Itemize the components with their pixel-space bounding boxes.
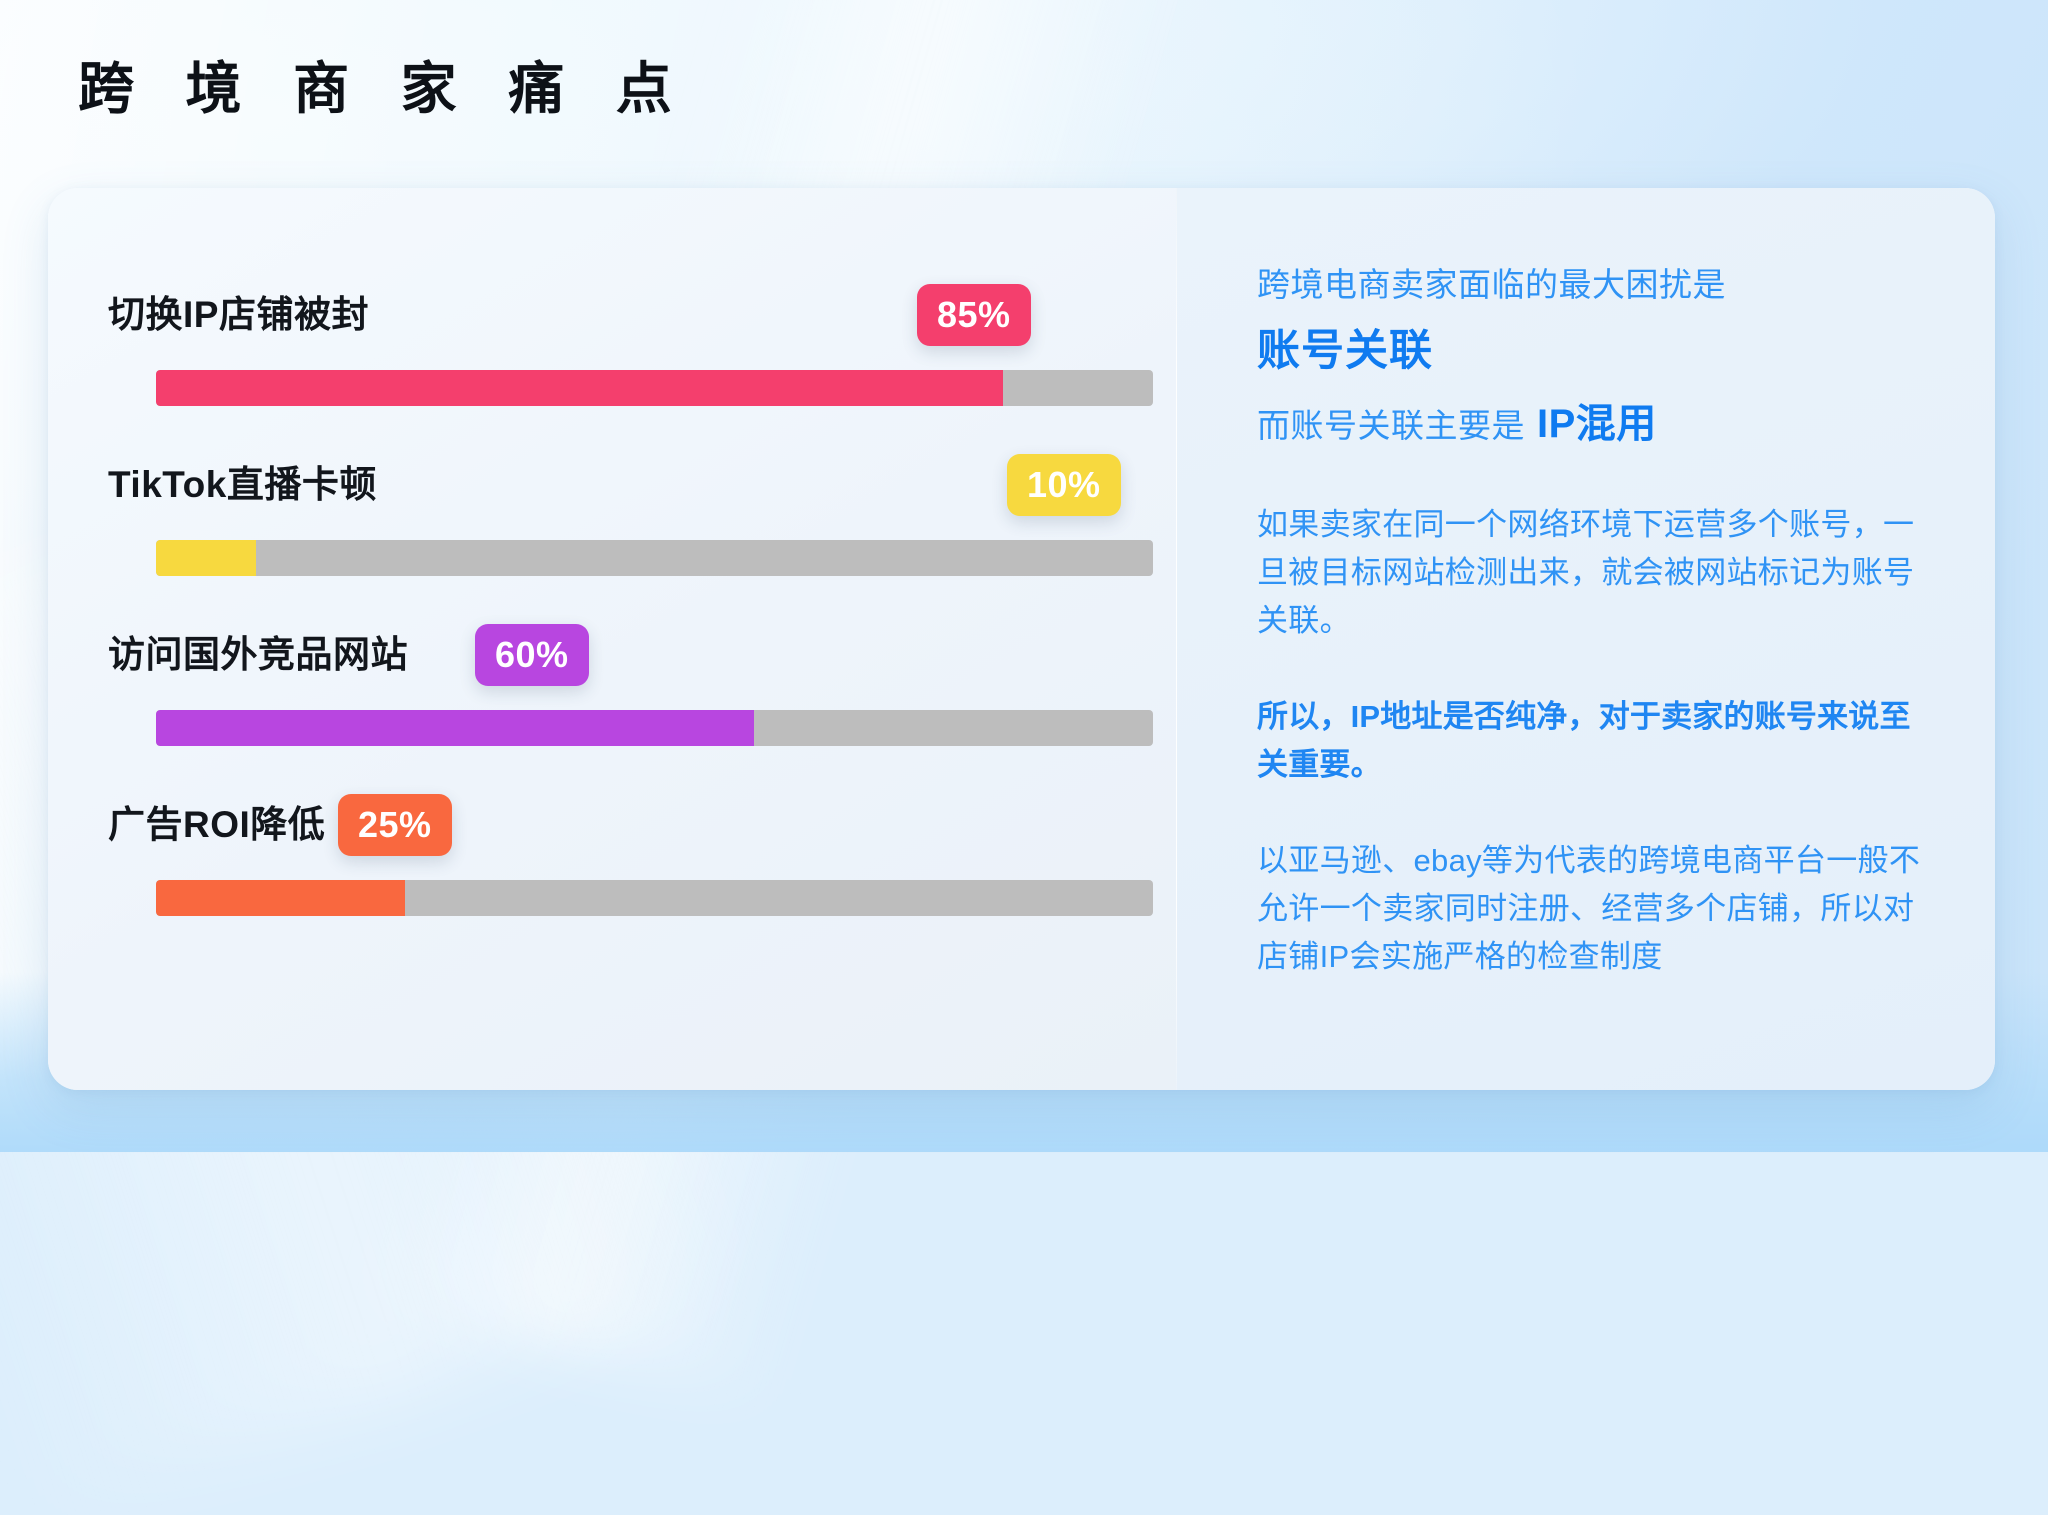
bar-label: 广告ROI降低 — [108, 806, 325, 843]
bar-value-badge: 10% — [1007, 454, 1121, 516]
description-paragraph-2: 所以，IP地址是否纯净，对于卖家的账号来说至关重要。 — [1257, 693, 1935, 789]
bar-fill — [156, 880, 405, 916]
description-paragraph-1: 如果卖家在同一个网络环境下运营多个账号，一旦被目标网站检测出来，就会被网站标记为… — [1257, 501, 1935, 645]
bar-fill — [156, 710, 754, 746]
bar-chart-list: 切换IP店铺被封 85% TikTok直播卡顿 10% 访问国外竞品网站 — [48, 188, 1176, 956]
bar-value-badge: 25% — [338, 794, 452, 856]
bar-row: 广告ROI降低 25% — [48, 786, 1176, 956]
bar-fill — [156, 540, 256, 576]
bar-header: 广告ROI降低 — [108, 786, 1176, 862]
content-card: 切换IP店铺被封 85% TikTok直播卡顿 10% 访问国外竞品网站 — [48, 188, 1995, 1090]
description-sub-strong: IP混用 — [1537, 396, 1657, 453]
bar-label: TikTok直播卡顿 — [108, 466, 377, 503]
bar-row: TikTok直播卡顿 10% — [48, 446, 1176, 616]
bar-value-badge: 85% — [917, 284, 1031, 346]
description-sub-prefix: 而账号关联主要是 — [1257, 403, 1525, 450]
bar-header: 访问国外竞品网站 — [108, 616, 1176, 692]
bar-track — [156, 370, 1153, 406]
description-subline: 而账号关联主要是 IP混用 — [1257, 396, 1935, 453]
bar-row: 切换IP店铺被封 85% — [48, 276, 1176, 446]
bar-track — [156, 710, 1153, 746]
description-content: 跨境电商卖家面临的最大困扰是 账号关联 而账号关联主要是 IP混用 如果卖家在同… — [1257, 262, 1935, 981]
bar-row: 访问国外竞品网站 60% — [48, 616, 1176, 786]
description-lead: 跨境电商卖家面临的最大困扰是 — [1257, 262, 1935, 309]
description-hero: 账号关联 — [1257, 321, 1935, 382]
page-title: 跨 境 商 家 痛 点 — [78, 58, 690, 120]
bar-value-badge: 60% — [475, 624, 589, 686]
bar-fill — [156, 370, 1003, 406]
bar-track — [156, 540, 1153, 576]
bar-label: 访问国外竞品网站 — [108, 636, 408, 673]
description-panel: 跨境电商卖家面临的最大困扰是 账号关联 而账号关联主要是 IP混用 如果卖家在同… — [1177, 188, 1995, 1090]
bar-label: 切换IP店铺被封 — [108, 296, 369, 333]
bar-track — [156, 880, 1153, 916]
bar-chart-panel: 切换IP店铺被封 85% TikTok直播卡顿 10% 访问国外竞品网站 — [48, 188, 1176, 1090]
description-paragraph-3: 以亚马逊、ebay等为代表的跨境电商平台一般不允许一个卖家同时注册、经营多个店铺… — [1257, 837, 1935, 981]
